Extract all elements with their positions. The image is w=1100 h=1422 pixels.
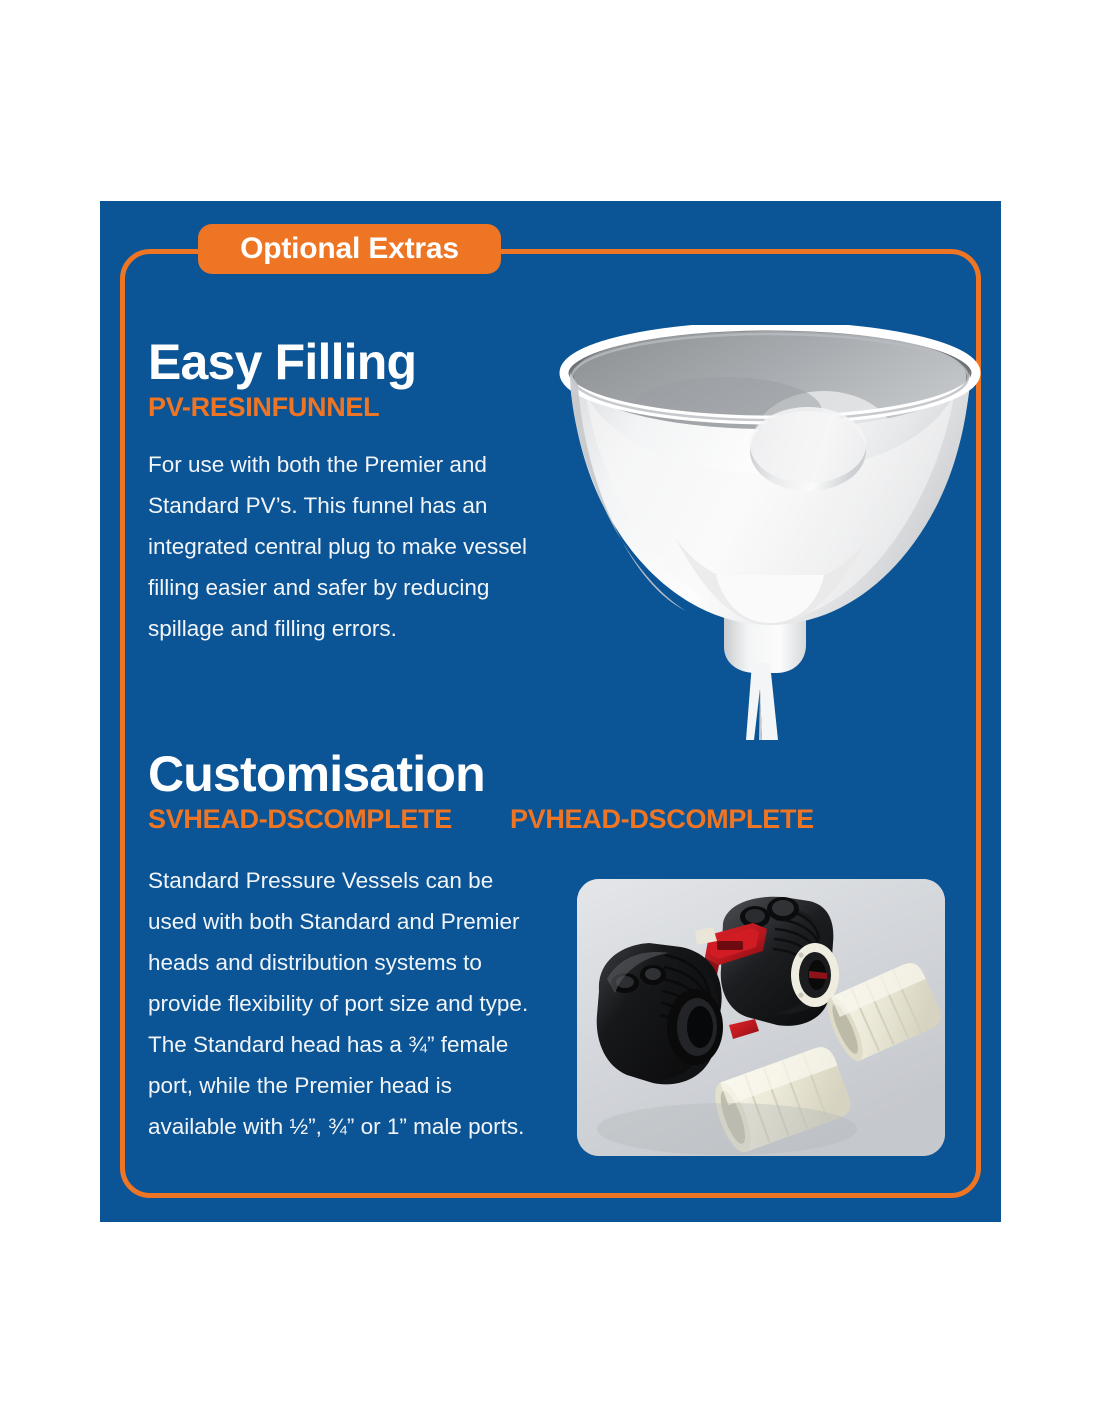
body-copy-easy-filling: For use with both the Premier and Standa… (148, 445, 540, 650)
sku-pv-resinfunnel: PV-RESINFUNNEL (148, 392, 379, 423)
optional-extras-badge-label: Optional Extras (240, 232, 459, 266)
section-title-customisation: Customisation (148, 748, 968, 800)
body-copy-customisation: Standard Pressure Vessels can be used wi… (148, 861, 540, 1148)
vessel-head-distribution-photo (577, 879, 945, 1156)
resin-funnel-photo (556, 325, 986, 740)
brochure-page: Optional Extras Easy Filling PV-RESINFUN… (0, 0, 1100, 1422)
optional-extras-badge: Optional Extras (198, 224, 501, 274)
sku-svhead-dscomplete: SVHEAD-DSCOMPLETE (148, 804, 452, 835)
sku-row-customisation: SVHEAD-DSCOMPLETE PVHEAD-DSCOMPLETE (148, 804, 968, 835)
sku-pvhead-dscomplete: PVHEAD-DSCOMPLETE (510, 804, 814, 835)
